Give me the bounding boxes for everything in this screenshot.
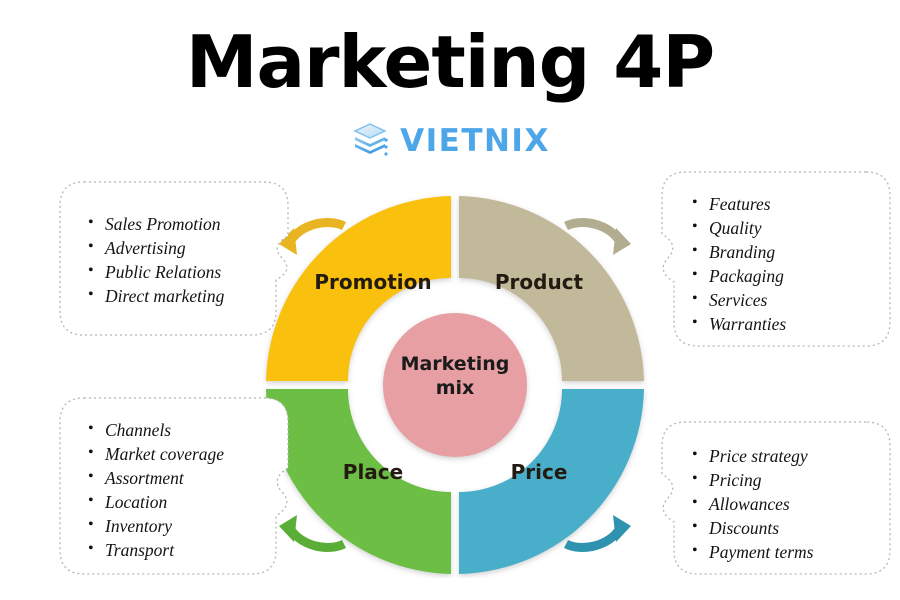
wheel-center-label: Marketing mix (375, 352, 535, 401)
list-item: Inventory (86, 514, 224, 538)
center-label-line1: Marketing (375, 352, 535, 376)
brand-name: VIETNIX (400, 126, 550, 157)
list-item: Location (86, 490, 224, 514)
callout-promotion: Sales Promotion Advertising Public Relat… (58, 180, 308, 337)
list-item: Features (690, 192, 786, 216)
list-item: Transport (86, 538, 224, 562)
list-item: Direct marketing (86, 284, 224, 308)
wheel-label-place: Place (298, 460, 448, 484)
callout-price: Price strategy Pricing Allowances Discou… (644, 420, 892, 578)
list-item: Warranties (690, 312, 786, 336)
list-item: Allowances (690, 492, 814, 516)
list-item: Pricing (690, 468, 814, 492)
list-item: Channels (86, 418, 224, 442)
page-title: Marketing 4P (0, 26, 900, 98)
list-item: Price strategy (690, 444, 814, 468)
list-item: Quality (690, 216, 786, 240)
stacked-layers-icon (350, 121, 390, 161)
list-item: Public Relations (86, 260, 224, 284)
list-item: Payment terms (690, 540, 814, 564)
list-item: Market coverage (86, 442, 224, 466)
brand-logo: VIETNIX (0, 118, 900, 164)
list-item: Sales Promotion (86, 212, 224, 236)
callout-promotion-list: Sales Promotion Advertising Public Relat… (86, 212, 224, 308)
callout-product-list: Features Quality Branding Packaging Serv… (690, 192, 786, 336)
list-item: Branding (690, 240, 786, 264)
marketing-mix-wheel: Promotion Product Place Price Marketing … (262, 192, 648, 578)
list-item: Advertising (86, 236, 224, 260)
center-label-line2: mix (375, 376, 535, 400)
list-item: Discounts (690, 516, 814, 540)
list-item: Services (690, 288, 786, 312)
callout-place: Channels Market coverage Assortment Loca… (58, 396, 308, 576)
list-item: Assortment (86, 466, 224, 490)
wheel-label-product: Product (464, 270, 614, 294)
wheel-label-promotion: Promotion (298, 270, 448, 294)
callout-product: Features Quality Branding Packaging Serv… (644, 170, 892, 350)
callout-place-list: Channels Market coverage Assortment Loca… (86, 418, 224, 562)
callout-price-list: Price strategy Pricing Allowances Discou… (690, 444, 814, 564)
list-item: Packaging (690, 264, 786, 288)
wheel-label-price: Price (464, 460, 614, 484)
header: Marketing 4P (0, 0, 900, 175)
